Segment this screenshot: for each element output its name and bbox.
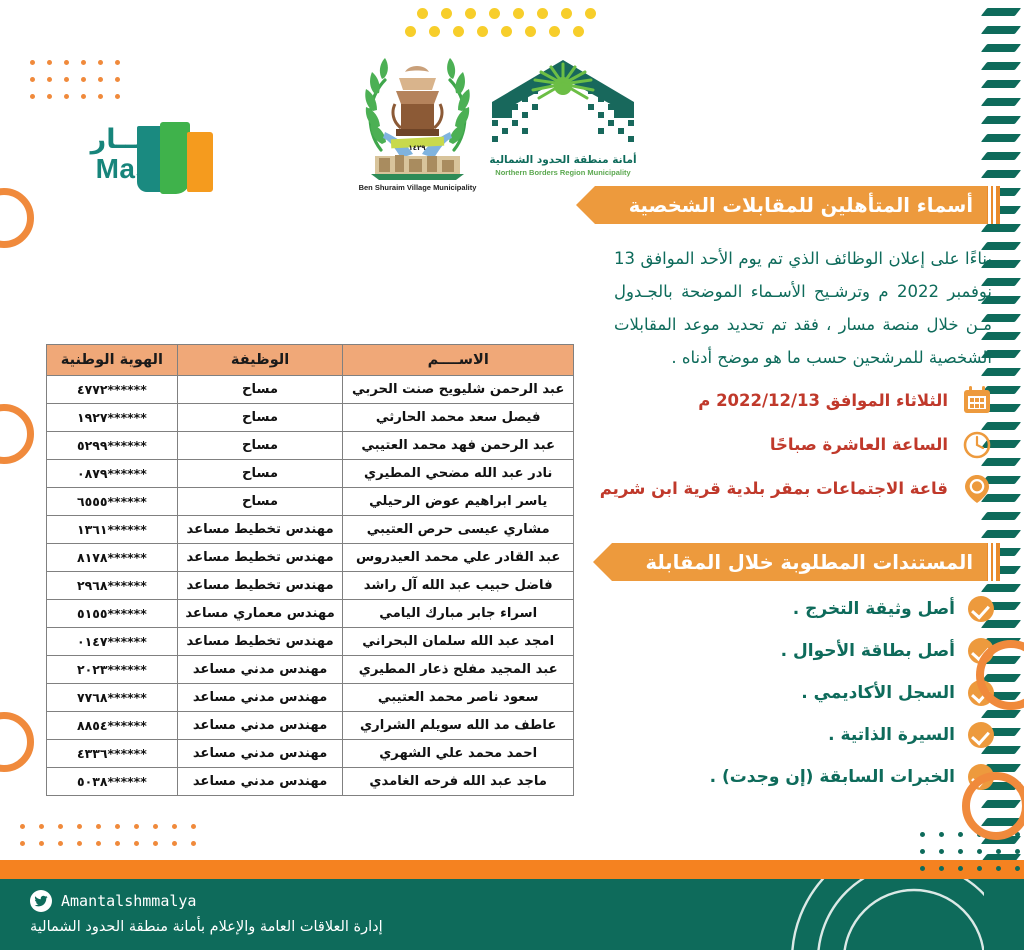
interview-details-list: الثلاثاء الموافق 2022/12/13 م الساعة الع… <box>604 378 994 510</box>
clock-icon <box>960 427 994 461</box>
cell-national-id: ******٧٧٦٨ <box>47 684 178 712</box>
cell-name: احمد محمد علي الشهري <box>343 740 574 768</box>
ben-shuraim-municipality-emblem: ١٤٢٩ Ben Shuraim Village Municipality <box>355 58 480 190</box>
decorative-ring-icon <box>962 772 1024 840</box>
masar-mark-green <box>160 122 190 194</box>
cell-job: مساح <box>177 460 343 488</box>
table-row: عبد الرحمن شليويح صنت الحربيمساح******٤٧… <box>47 376 574 404</box>
cell-job: مساح <box>177 376 343 404</box>
table-row: اسراء جابر مبارك الياميمهندس معماري مساع… <box>47 600 574 628</box>
document-label: الخبرات السابقة (إن وجدت) . <box>710 767 955 787</box>
location-pin-icon <box>960 471 994 505</box>
cell-name: عبد المجيد مفلح ذعار المطيري <box>343 656 574 684</box>
calendar-icon <box>960 383 994 417</box>
table-row: عبد الرحمن فهد محمد العتيبيمساح******٥٢٩… <box>47 432 574 460</box>
cell-name: فاضل حبيب عبد الله آل راشد <box>343 572 574 600</box>
list-item: الخبرات السابقة (إن وجدت) . <box>604 756 994 798</box>
cell-job: مهندس تخطيط مساعد <box>177 628 343 656</box>
cell-national-id: ******٥٠٣٨ <box>47 768 178 796</box>
document-label: السجل الأكاديمي . <box>801 683 955 703</box>
info-time-text: الساعة العاشرة صباحًا <box>770 435 948 454</box>
cell-national-id: ******٥٢٩٩ <box>47 432 178 460</box>
cell-name: عاطف مد الله سويلم الشراري <box>343 712 574 740</box>
cell-name: فيصل سعد محمد الحارثي <box>343 404 574 432</box>
top-yellow-dot-grid <box>404 8 596 44</box>
document-label: السيرة الذاتية . <box>828 725 955 745</box>
cell-job: مهندس تخطيط مساعد <box>177 544 343 572</box>
info-date-text: الثلاثاء الموافق 2022/12/13 م <box>698 391 948 410</box>
table-header-row: الاســــم الوظيفة الهوية الوطنية <box>47 345 574 376</box>
bottom-right-green-dot-grid <box>906 832 1020 883</box>
crest-caption: Ben Shuraim Village Municipality <box>355 183 480 192</box>
cell-national-id: ******٦٥٥٥ <box>47 488 178 516</box>
document-label: أصل بطاقة الأحوال . <box>781 641 955 661</box>
footer-orange-band <box>0 860 1024 879</box>
banner-required-documents: المستندات المطلوبة خلال المقابلة <box>612 543 1000 581</box>
decorative-ring-icon <box>0 404 34 464</box>
candidates-table: الاســــم الوظيفة الهوية الوطنية عبد الر… <box>46 344 574 796</box>
table-row: احمد محمد علي الشهريمهندس مدني مساعد****… <box>47 740 574 768</box>
cell-national-id: ******١٩٢٧ <box>47 404 178 432</box>
cell-national-id: ******٤٧٧٢ <box>47 376 178 404</box>
table-row: عبد القادر علي محمد العيدروسمهندس تخطيط … <box>47 544 574 572</box>
svg-text:١٤٢٩: ١٤٢٩ <box>408 144 426 152</box>
intro-paragraph: بناءًا على إعلان الوظائف الذي تم يوم الأ… <box>614 242 992 374</box>
cell-national-id: ******٢٩٦٨ <box>47 572 178 600</box>
cell-job: مساح <box>177 432 343 460</box>
table-row: عبد المجيد مفلح ذعار المطيريمهندس مدني م… <box>47 656 574 684</box>
cell-name: نادر عبد الله مضحي المطيري <box>343 460 574 488</box>
cell-name: عبد القادر علي محمد العيدروس <box>343 544 574 572</box>
cell-national-id: ******٤٣٣٦ <box>47 740 178 768</box>
cell-national-id: ******٠١٤٧ <box>47 628 178 656</box>
palm-burst-icon <box>533 64 593 98</box>
left-orange-dot-grid <box>18 60 120 111</box>
list-item: أصل بطاقة الأحوال . <box>604 630 994 672</box>
twitter-handle-row[interactable]: Amantalshmmalya <box>30 890 196 912</box>
cell-name: امجد عبد الله سلمان البحراني <box>343 628 574 656</box>
table-row: فاضل حبيب عبد الله آل راشدمهندس تخطيط مس… <box>47 572 574 600</box>
cell-name: عبد الرحمن فهد محمد العتيبي <box>343 432 574 460</box>
cell-name: سعود ناصر محمد العتيبي <box>343 684 574 712</box>
cell-name: ماجد عبد الله فرحه الغامدي <box>343 768 574 796</box>
column-header-job: الوظيفة <box>177 345 343 376</box>
cell-name: اسراء جابر مبارك اليامي <box>343 600 574 628</box>
masar-mark-orange <box>187 132 213 192</box>
cell-name: ياسر ابراهيم عوض الرحيلي <box>343 488 574 516</box>
decorative-ring-icon <box>0 712 34 772</box>
cell-national-id: ******٨٨٥٤ <box>47 712 178 740</box>
table-row: مشاري عيسى حرص العتيبيمهندس تخطيط مساعد*… <box>47 516 574 544</box>
footer-department-text: إدارة العلاقات العامة والإعلام بأمانة من… <box>30 919 383 935</box>
cell-national-id: ******١٣٦١ <box>47 516 178 544</box>
list-item: السجل الأكاديمي . <box>604 672 994 714</box>
table-row: عاطف مد الله سويلم الشراريمهندس مدني مسا… <box>47 712 574 740</box>
footer-bar: Amantalshmmalya إدارة العلاقات العامة وا… <box>0 879 1024 950</box>
cell-job: مهندس مدني مساعد <box>177 740 343 768</box>
cell-national-id: ******٠٨٧٩ <box>47 460 178 488</box>
check-circle-icon <box>968 596 994 622</box>
candidates-table-wrapper: الاســــم الوظيفة الهوية الوطنية عبد الر… <box>46 344 574 796</box>
banner-stripes <box>987 186 1000 224</box>
nbrm-arabic-name: أمانة منطقة الحدود الشمالية <box>486 154 640 166</box>
footer-arc-decoration <box>684 879 984 950</box>
twitter-handle-text: Amantalshmmalya <box>61 892 196 910</box>
banner-title: أسماء المتأهلين للمقابلات الشخصية <box>595 186 987 224</box>
cell-job: مهندس معماري مساعد <box>177 600 343 628</box>
table-row: ياسر ابراهيم عوض الرحيليمساح******٦٥٥٥ <box>47 488 574 516</box>
decorative-ring-icon <box>0 188 34 248</box>
banner-stripes <box>987 543 1000 581</box>
list-item: أصل وثيقة التخرج . <box>604 588 994 630</box>
nbrm-english-name: Northern Borders Region Municipality <box>486 168 640 177</box>
cell-job: مهندس مدني مساعد <box>177 656 343 684</box>
masar-logo: مســار Masar <box>52 122 257 200</box>
table-row: فيصل سعد محمد الحارثيمساح******١٩٢٧ <box>47 404 574 432</box>
table-head: الاســــم الوظيفة الهوية الوطنية <box>47 345 574 376</box>
poster-canvas: مســار Masar <box>0 0 1024 950</box>
cell-national-id: ******٥١٥٥ <box>47 600 178 628</box>
table-row: نادر عبد الله مضحي المطيريمساح******٠٨٧٩ <box>47 460 574 488</box>
info-row-time: الساعة العاشرة صباحًا <box>604 422 994 466</box>
table-row: سعود ناصر محمد العتيبيمهندس مدني مساعد**… <box>47 684 574 712</box>
twitter-icon[interactable] <box>30 890 52 912</box>
nbrm-artwork <box>486 58 640 154</box>
info-row-location: قاعة الاجتماعات بمقر بلدية قرية ابن شريم <box>604 466 994 510</box>
cell-national-id: ******٨١٧٨ <box>47 544 178 572</box>
cell-job: مهندس مدني مساعد <box>177 768 343 796</box>
cell-job: مساح <box>177 488 343 516</box>
column-header-national-id: الهوية الوطنية <box>47 345 178 376</box>
table-body: عبد الرحمن شليويح صنت الحربيمساح******٤٧… <box>47 376 574 796</box>
banner-qualified-names: أسماء المتأهلين للمقابلات الشخصية <box>595 186 1000 224</box>
info-row-date: الثلاثاء الموافق 2022/12/13 م <box>604 378 994 422</box>
cell-job: مهندس تخطيط مساعد <box>177 516 343 544</box>
northern-borders-municipality-logo: أمانة منطقة الحدود الشمالية Northern Bor… <box>486 58 640 190</box>
cell-job: مهندس تخطيط مساعد <box>177 572 343 600</box>
column-header-name: الاســــم <box>343 345 574 376</box>
required-documents-list: أصل وثيقة التخرج . أصل بطاقة الأحوال . ا… <box>604 588 994 798</box>
table-row: ماجد عبد الله فرحه الغامديمهندس مدني مسا… <box>47 768 574 796</box>
bottom-left-orange-dot-grid <box>6 824 196 858</box>
cell-job: مهندس مدني مساعد <box>177 684 343 712</box>
list-item: السيرة الذاتية . <box>604 714 994 756</box>
cell-name: عبد الرحمن شليويح صنت الحربي <box>343 376 574 404</box>
banner-title: المستندات المطلوبة خلال المقابلة <box>612 543 987 581</box>
cell-job: مساح <box>177 404 343 432</box>
info-location-text: قاعة الاجتماعات بمقر بلدية قرية ابن شريم <box>600 479 948 498</box>
cell-name: مشاري عيسى حرص العتيبي <box>343 516 574 544</box>
document-label: أصل وثيقة التخرج . <box>793 599 955 619</box>
cell-national-id: ******٢٠٢٣ <box>47 656 178 684</box>
table-row: امجد عبد الله سلمان البحرانيمهندس تخطيط … <box>47 628 574 656</box>
crest-artwork: ١٤٢٩ <box>355 58 480 182</box>
check-circle-icon <box>968 722 994 748</box>
cell-job: مهندس مدني مساعد <box>177 712 343 740</box>
